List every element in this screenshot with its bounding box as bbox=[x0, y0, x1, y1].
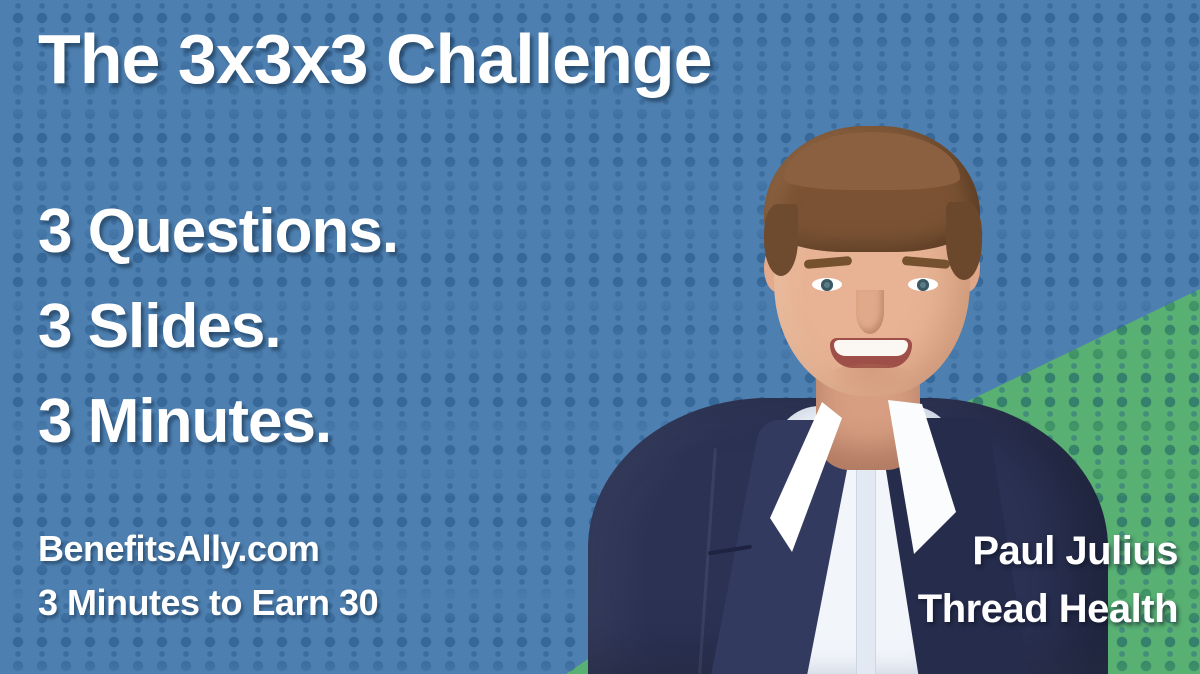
iris-left bbox=[821, 279, 833, 291]
slide-bullet-list: 3 Questions. 3 Slides. 3 Minutes. bbox=[38, 184, 398, 469]
chin-shading bbox=[824, 364, 916, 394]
speaker-organization: Thread Health bbox=[918, 580, 1178, 638]
eye-left bbox=[812, 278, 842, 291]
footer-branding: BenefitsAlly.com 3 Minutes to Earn 30 bbox=[38, 522, 378, 630]
footer-tagline: 3 Minutes to Earn 30 bbox=[38, 576, 378, 630]
slide-headline: The 3x3x3 Challenge bbox=[38, 24, 712, 94]
bullet-item-slides: 3 Slides. bbox=[38, 279, 398, 374]
speaker-credit: Paul Julius Thread Health bbox=[918, 522, 1178, 638]
teeth bbox=[834, 340, 908, 356]
nose bbox=[856, 290, 884, 334]
website-url: BenefitsAlly.com bbox=[38, 522, 378, 576]
eye-right bbox=[908, 278, 938, 291]
hair-side-left bbox=[764, 204, 798, 276]
speaker-name: Paul Julius bbox=[918, 522, 1178, 580]
iris-right bbox=[917, 279, 929, 291]
hair-side-right bbox=[946, 202, 982, 280]
shirt-placket bbox=[856, 470, 876, 674]
bullet-item-minutes: 3 Minutes. bbox=[38, 374, 398, 469]
presentation-slide: The 3x3x3 Challenge 3 Questions. 3 Slide… bbox=[0, 0, 1200, 674]
bullet-item-questions: 3 Questions. bbox=[38, 184, 398, 279]
